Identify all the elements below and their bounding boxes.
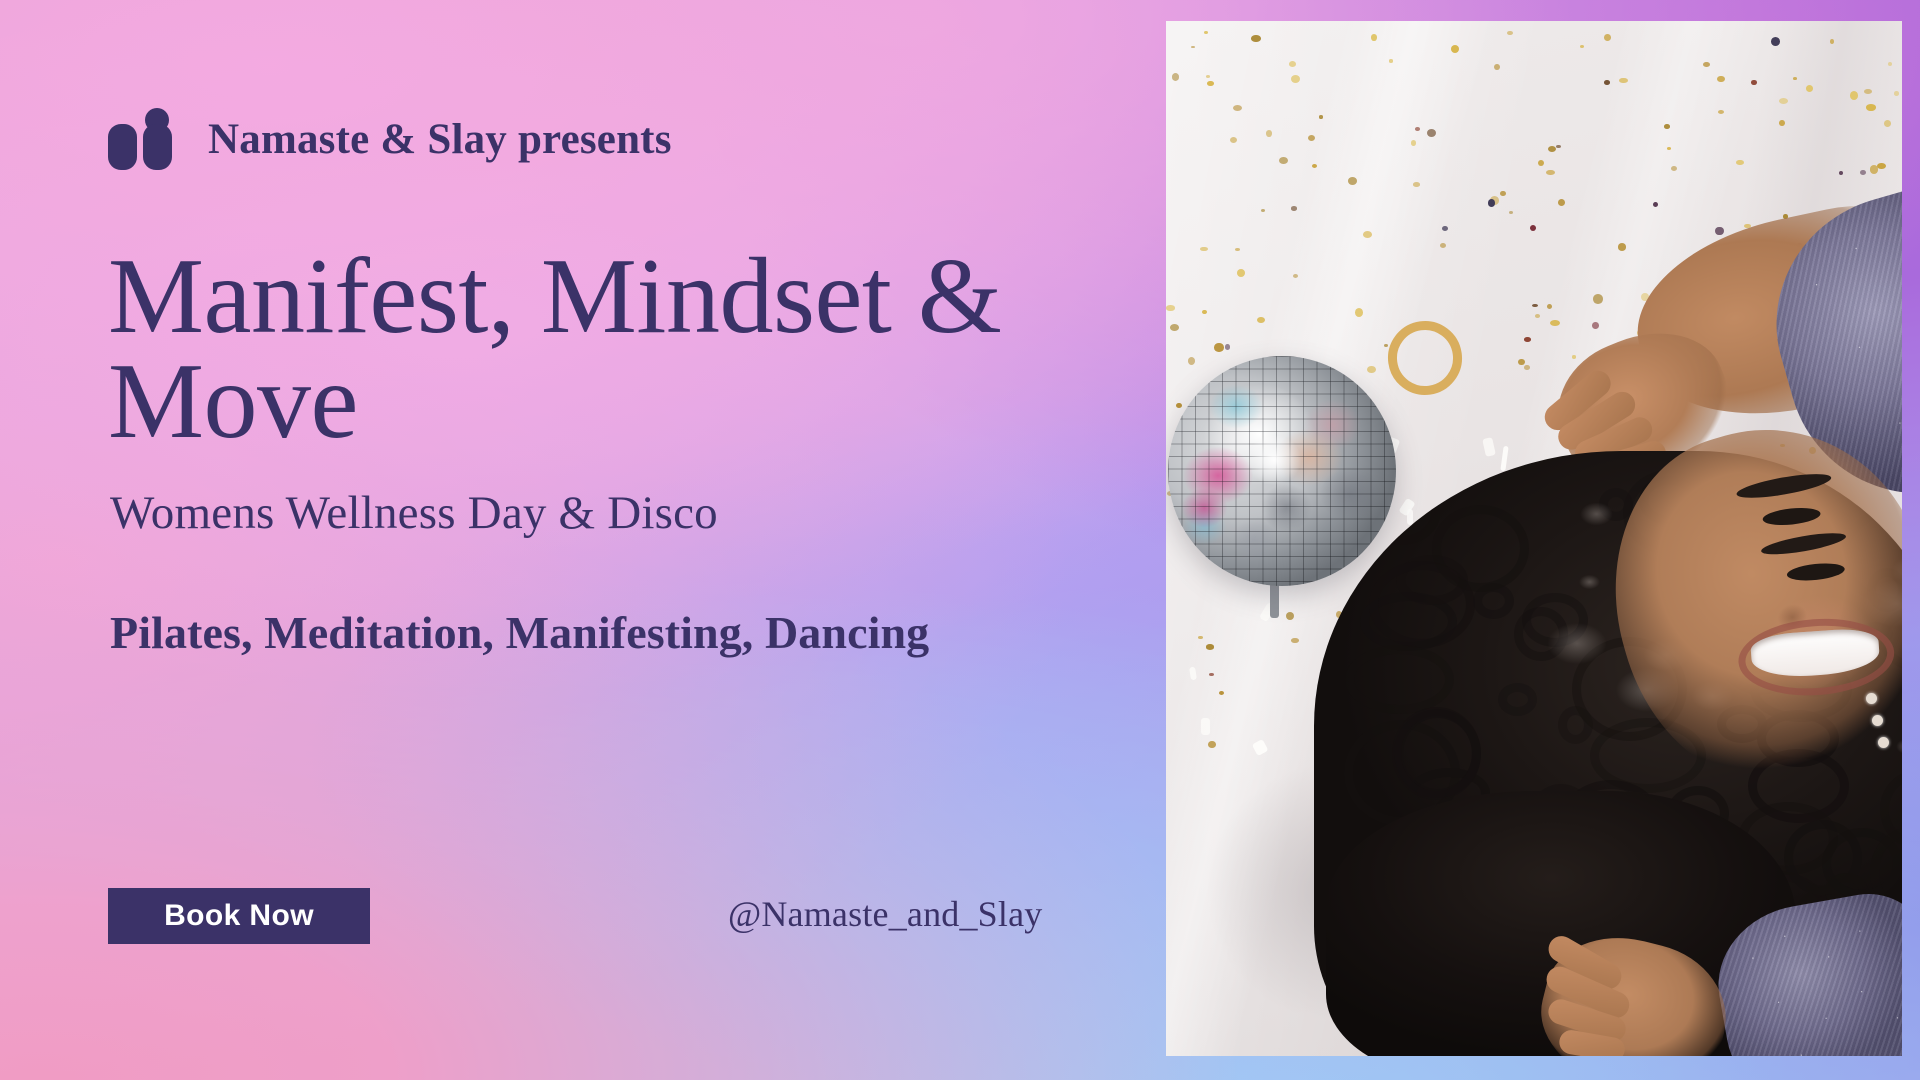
- confetti-dot: [1667, 147, 1672, 150]
- confetti-dot: [1411, 140, 1417, 146]
- confetti-dot: [1494, 64, 1500, 70]
- confetti-dot: [1604, 80, 1611, 85]
- confetti-dot: [1440, 243, 1446, 248]
- confetti-dot: [1291, 638, 1299, 643]
- confetti-dot: [1291, 206, 1298, 211]
- eyebrow-upper: [1735, 469, 1832, 502]
- confetti-dot: [1618, 243, 1627, 251]
- confetti-dot: [1355, 308, 1363, 317]
- hair-sheen: [1574, 498, 1619, 530]
- confetti-dot: [1547, 304, 1552, 309]
- confetti-dot: [1736, 160, 1744, 166]
- confetti-dot: [1509, 211, 1513, 214]
- confetti-streak: [1252, 738, 1269, 755]
- confetti-dot: [1653, 202, 1658, 207]
- confetti-dot: [1389, 59, 1394, 63]
- confetti-dot: [1488, 199, 1496, 207]
- confetti-dot: [1546, 170, 1555, 176]
- logo-shape-right: [143, 124, 172, 170]
- confetti-dot: [1538, 160, 1544, 166]
- logo-shape-left: [108, 124, 137, 170]
- confetti-dot: [1286, 612, 1294, 621]
- brand-row: Namaste & Slay presents: [108, 108, 672, 170]
- book-now-label: Book Now: [164, 899, 314, 933]
- confetti-dot: [1532, 304, 1538, 307]
- hair-sheen: [1536, 615, 1618, 672]
- ear-stud: [1866, 693, 1877, 704]
- confetti-dot: [1235, 248, 1240, 251]
- disco-ball-highlight: [1236, 425, 1312, 495]
- confetti-dot: [1548, 146, 1557, 153]
- confetti-dot: [1806, 85, 1813, 92]
- confetti-streak: [1201, 718, 1210, 735]
- confetti-dot: [1593, 294, 1603, 304]
- confetti-dot: [1233, 105, 1243, 112]
- confetti-streak: [1482, 437, 1496, 456]
- confetti-dot: [1225, 344, 1231, 350]
- confetti-dot: [1363, 231, 1372, 238]
- confetti-dot: [1279, 157, 1288, 164]
- confetti-dot: [1237, 269, 1245, 277]
- confetti-dot: [1507, 31, 1513, 36]
- confetti-dot: [1261, 209, 1266, 213]
- hair-curl: [1363, 481, 1440, 545]
- confetti-dot: [1413, 182, 1421, 187]
- confetti-dot: [1500, 191, 1506, 197]
- confetti-dot: [1198, 636, 1203, 640]
- confetti-dot: [1293, 274, 1299, 279]
- confetti-dot: [1451, 45, 1459, 53]
- activities-list: Pilates, Meditation, Manifesting, Dancin…: [110, 602, 1020, 664]
- book-now-button[interactable]: Book Now: [108, 888, 370, 944]
- confetti-dot: [1556, 145, 1562, 149]
- hair-curl: [1345, 645, 1454, 714]
- two-people-logo-icon: [108, 108, 174, 170]
- confetti-dot: [1204, 31, 1208, 34]
- confetti-streak: [1189, 667, 1197, 681]
- disco-ball: [1168, 356, 1396, 586]
- confetti-dot: [1384, 344, 1389, 348]
- confetti-dot: [1524, 337, 1531, 342]
- confetti-dot: [1348, 177, 1357, 185]
- confetti-dot: [1550, 320, 1560, 326]
- confetti-dot: [1718, 110, 1724, 114]
- disco-ball-sphere: [1168, 356, 1396, 586]
- ear-stud: [1878, 737, 1889, 748]
- confetti-dot: [1793, 77, 1798, 80]
- confetti-dot: [1442, 226, 1448, 231]
- confetti-dot: [1535, 314, 1540, 318]
- hair-curl: [1432, 505, 1529, 592]
- confetti-dot: [1619, 78, 1627, 83]
- confetti-dot: [1779, 120, 1785, 126]
- confetti-dot: [1877, 163, 1886, 169]
- confetti-dot: [1219, 691, 1224, 695]
- hair-curl: [1392, 707, 1481, 800]
- page-title: Manifest, Mindset & Move: [108, 245, 1118, 455]
- confetti-dot: [1671, 166, 1677, 171]
- confetti-dot: [1289, 61, 1296, 67]
- confetti-dot: [1884, 120, 1892, 127]
- confetti-dot: [1170, 324, 1180, 331]
- confetti-dot: [1592, 322, 1599, 329]
- hair-curl: [1498, 683, 1537, 716]
- confetti-dot: [1202, 310, 1207, 315]
- confetti-dot: [1427, 129, 1436, 137]
- confetti-dot: [1266, 130, 1272, 137]
- confetti-dot: [1864, 89, 1872, 95]
- confetti-dot: [1200, 247, 1207, 252]
- confetti-dot: [1771, 37, 1780, 46]
- promo-banner: Namaste & Slay presents Manifest, Mindse…: [0, 0, 1920, 1080]
- confetti-dot: [1664, 124, 1670, 129]
- confetti-dot: [1415, 127, 1420, 131]
- confetti-streak: [1500, 446, 1509, 472]
- confetti-dot: [1166, 305, 1174, 310]
- confetti-dot: [1172, 73, 1180, 81]
- confetti-dot: [1860, 170, 1866, 175]
- ear-stud: [1872, 715, 1883, 726]
- confetti-dot: [1319, 115, 1323, 118]
- confetti-dot: [1751, 80, 1757, 85]
- confetti-dot: [1866, 104, 1876, 110]
- confetti-dot: [1208, 741, 1215, 748]
- hair-sheen: [1892, 736, 1902, 757]
- confetti-dot: [1530, 225, 1536, 231]
- confetti-dot: [1558, 199, 1565, 206]
- confetti-dot: [1209, 673, 1214, 676]
- eyebrow-lower: [1760, 529, 1847, 559]
- event-subtitle: Womens Wellness Day & Disco: [110, 486, 718, 540]
- confetti-dot: [1291, 75, 1300, 83]
- confetti-dot: [1715, 227, 1723, 236]
- confetti-dot: [1779, 98, 1788, 104]
- confetti-dot: [1830, 39, 1834, 44]
- brand-name: Namaste & Slay presents: [208, 115, 672, 164]
- confetti-dot: [1518, 359, 1525, 365]
- confetti-dot: [1257, 317, 1266, 324]
- confetti-dot: [1572, 355, 1576, 358]
- hero-photo: [1166, 21, 1902, 1056]
- confetti-dot: [1214, 343, 1224, 352]
- confetti-dot: [1894, 91, 1900, 96]
- confetti-dot: [1524, 365, 1529, 370]
- confetti-dot: [1207, 81, 1214, 86]
- confetti-dot: [1839, 171, 1843, 175]
- confetti-dot: [1308, 135, 1315, 141]
- confetti-dot: [1580, 45, 1584, 48]
- confetti-dot: [1251, 35, 1260, 42]
- confetti-dot: [1206, 644, 1215, 649]
- text-column: Namaste & Slay presents Manifest, Mindse…: [108, 0, 1118, 1080]
- confetti-dot: [1191, 46, 1195, 49]
- confetti-dot: [1703, 62, 1710, 67]
- confetti-dot: [1888, 62, 1893, 66]
- confetti-dot: [1206, 75, 1210, 78]
- confetti-dot: [1371, 34, 1377, 40]
- confetti-dot: [1230, 137, 1237, 143]
- hair-sheen: [1575, 572, 1604, 592]
- confetti-dot: [1312, 164, 1317, 168]
- confetti-dot: [1717, 76, 1725, 83]
- eye-upper: [1762, 505, 1821, 527]
- confetti-dot: [1604, 34, 1611, 41]
- confetti-dot: [1850, 91, 1858, 100]
- social-handle: @Namaste_and_Slay: [728, 893, 1042, 935]
